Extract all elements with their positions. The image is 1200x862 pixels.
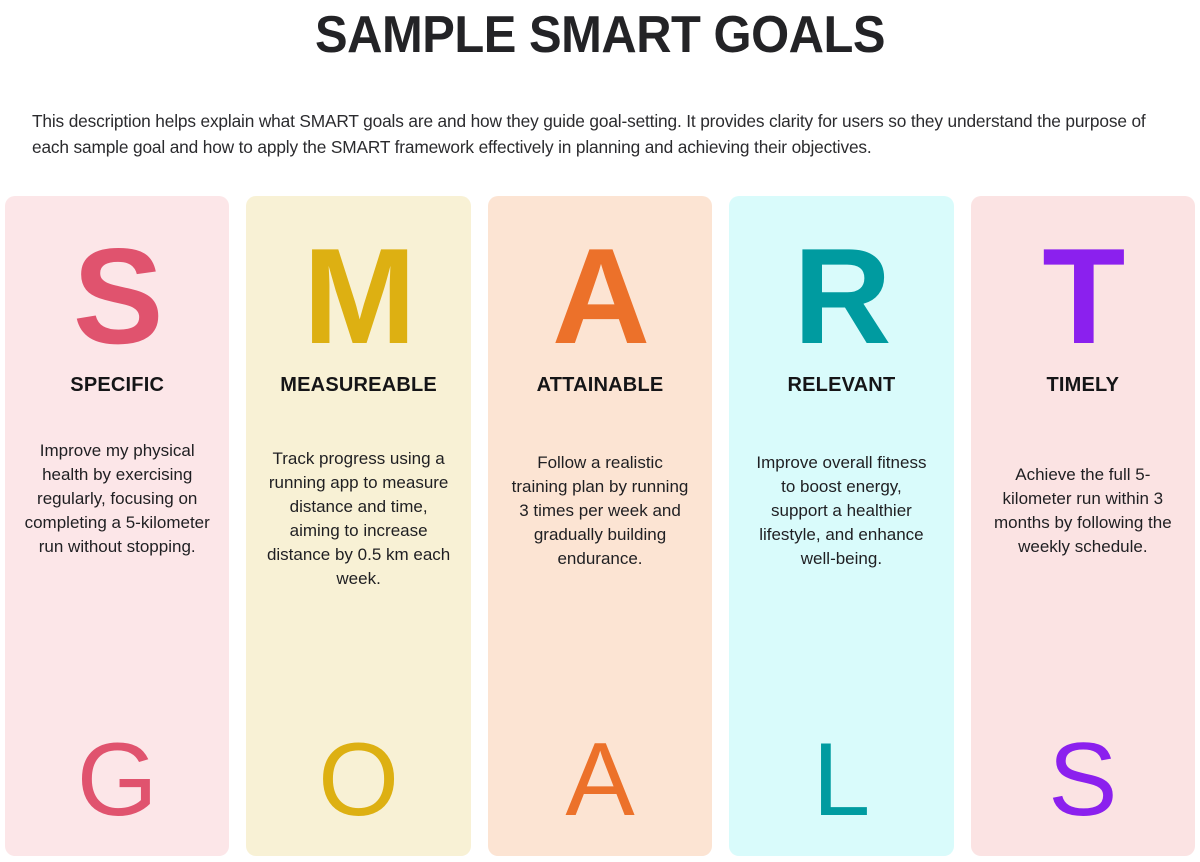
big-letter-r: R (793, 228, 889, 350)
big-letter-t: T (1042, 228, 1123, 350)
big-letter-a: A (552, 228, 648, 350)
card-label-attainable: ATTAINABLE (537, 374, 664, 397)
smart-card-attainable[interactable]: A ATTAINABLE Follow a realistic training… (488, 196, 712, 856)
big-letter-m: M (303, 228, 414, 350)
card-description-timely: Achieve the full 5-kilometer run within … (971, 463, 1195, 559)
smart-card-measureable[interactable]: M MEASUREABLE Track progress using a run… (246, 196, 470, 856)
smart-card-relevant[interactable]: R RELEVANT Improve overall fitness to bo… (729, 196, 953, 856)
card-description-relevant: Improve overall fitness to boost energy,… (729, 451, 953, 571)
goals-letter-g: G (5, 728, 229, 832)
card-label-measureable: MEASUREABLE (280, 374, 437, 397)
card-description-specific: Improve my physical health by exercising… (5, 439, 229, 559)
card-description-attainable: Follow a realistic training plan by runn… (488, 451, 712, 571)
goals-letter-o: O (246, 728, 470, 832)
card-description-measureable: Track progress using a running app to me… (246, 447, 470, 591)
page-title: SAMPLE SMART GOALS (36, 0, 1164, 64)
intro-description: This description helps explain what SMAR… (32, 109, 1152, 160)
card-label-timely: TIMELY (1046, 374, 1119, 397)
header: SAMPLE SMART GOALS This description help… (0, 0, 1200, 64)
big-letter-s: S (73, 228, 162, 350)
smart-card-timely[interactable]: T TIMELY Achieve the full 5-kilometer ru… (971, 196, 1195, 856)
goals-letter-a: A (488, 728, 712, 832)
goals-letter-l: L (729, 728, 953, 832)
smart-card-row: S SPECIFIC Improve my physical health by… (5, 196, 1195, 856)
smart-goals-infographic: SAMPLE SMART GOALS This description help… (0, 0, 1200, 862)
card-label-relevant: RELEVANT (787, 374, 895, 397)
smart-card-specific[interactable]: S SPECIFIC Improve my physical health by… (5, 196, 229, 856)
goals-letter-s: S (971, 728, 1195, 832)
card-label-specific: SPECIFIC (70, 374, 164, 397)
